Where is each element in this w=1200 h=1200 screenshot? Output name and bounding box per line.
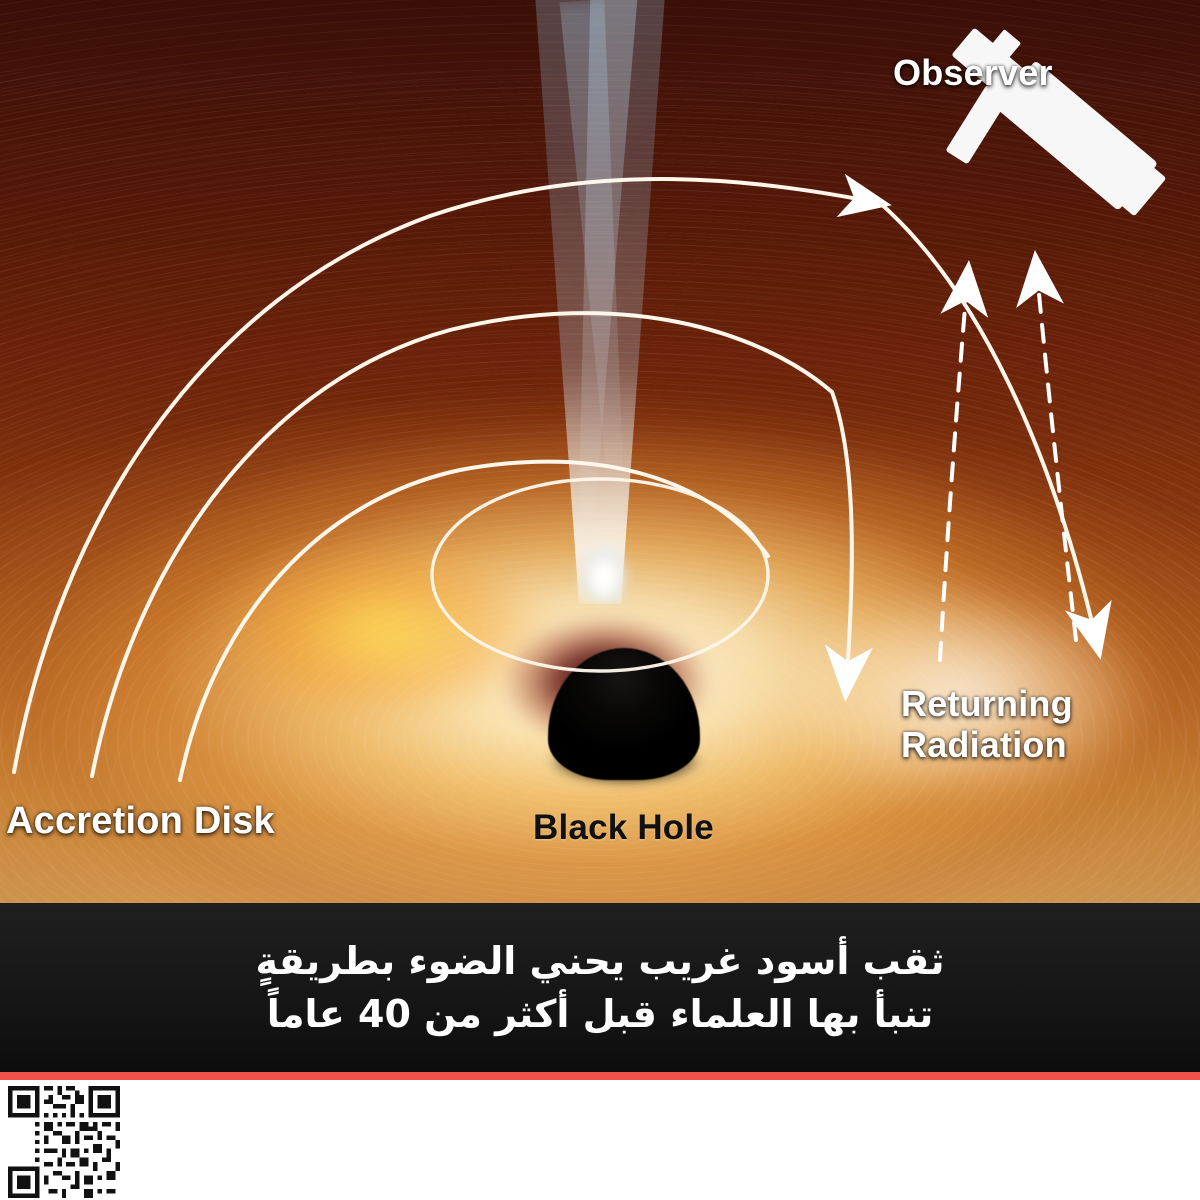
caption-line-1: ثقب أسود غريب يحني الضوء بطريقةٍ [256, 938, 945, 984]
observer-label: Observer [893, 52, 1053, 94]
caption-line-2: تنبأ بها العلماء قبل أكثر من 40 عاماً [267, 991, 933, 1037]
returning-radiation-path [832, 392, 852, 690]
black-hole-label: Black Hole [533, 808, 714, 848]
red-divider [0, 1072, 1200, 1080]
caption-bar: ثقب أسود غريب يحني الضوء بطريقةٍ تنبأ به… [0, 903, 1200, 1072]
dashed-ray-left [940, 272, 968, 660]
poster-root: Accretion Disk Black Hole Observer Retur… [0, 0, 1200, 1200]
qr-code-icon[interactable] [8, 1086, 120, 1198]
accretion-disk-label: Accretion Disk [6, 800, 275, 843]
returning-radiation-label: Returning Radiation [901, 684, 1151, 765]
light-path-overlay [0, 0, 1200, 903]
dashed-ray-right [1036, 262, 1076, 640]
black-hole-illustration: Accretion Disk Black Hole Observer Retur… [0, 0, 1200, 903]
light-path-inner [180, 462, 768, 780]
returning-radiation-path-outer [880, 203, 1098, 648]
light-path-outer [14, 179, 880, 772]
footer-bar: www.nasainarabic.net @NasaInArabic NasaI… [0, 1080, 1200, 1200]
